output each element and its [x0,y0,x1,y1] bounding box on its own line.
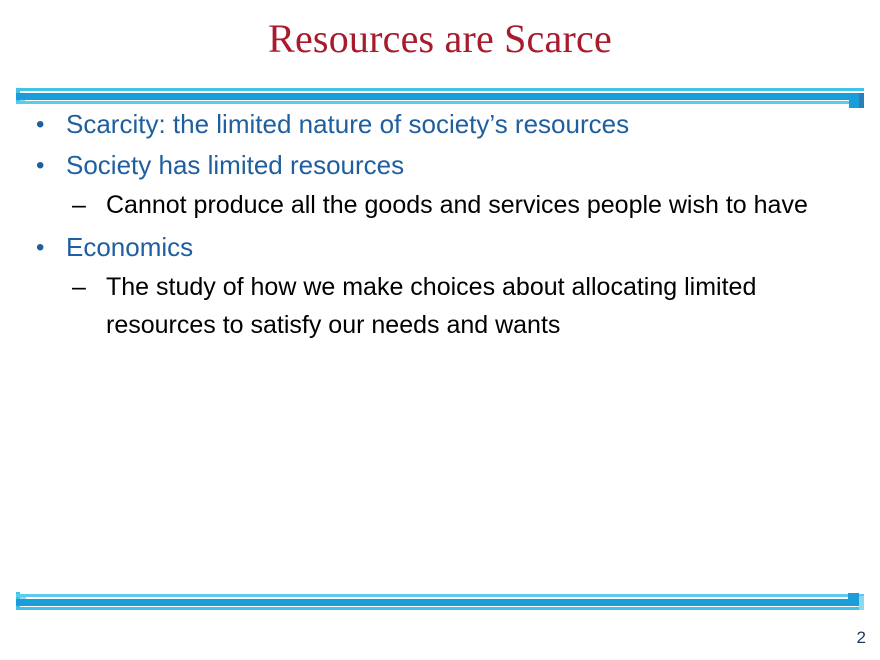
divider-bottom-hairline-upper [16,594,864,597]
content-body: • Scarcity: the limited nature of societ… [26,104,862,344]
divider-bottom-hairline-lower [16,607,864,610]
divider-bottom-right-tab [859,596,864,610]
bullet-marker-dot: • [26,145,66,186]
bullet-item-scarcity: • Scarcity: the limited nature of societ… [26,104,862,145]
bullet-marker-dot: • [26,104,66,145]
slide: Resources are Scarce • Scarcity: the lim… [0,0,880,660]
bullet-marker-dot: • [26,227,66,268]
bullet-text: Economics [66,227,862,268]
bullet-marker-dash: – [26,186,106,224]
bullet-text: Scarcity: the limited nature of society’… [66,104,862,145]
sub-bullet-text: Cannot produce all the goods and service… [106,186,836,224]
page-number: 2 [857,628,866,648]
bullet-text: Society has limited resources [66,145,862,186]
sub-bullet-item-cannot-produce: – Cannot produce all the goods and servi… [26,186,862,224]
divider-bottom [16,590,864,610]
divider-top-band [16,93,864,100]
divider-bottom-band [16,599,864,606]
bullet-marker-dash: – [26,268,106,306]
divider-bottom-right-cap [848,593,859,601]
bullet-item-economics: • Economics [26,227,862,268]
divider-top-hairline-upper [16,88,864,91]
sub-bullet-item-study-of-choices: – The study of how we make choices about… [26,268,862,344]
bullet-item-society-has-limited-resources: • Society has limited resources [26,145,862,186]
sub-bullet-text: The study of how we make choices about a… [106,268,836,344]
page-title: Resources are Scarce [0,14,880,64]
